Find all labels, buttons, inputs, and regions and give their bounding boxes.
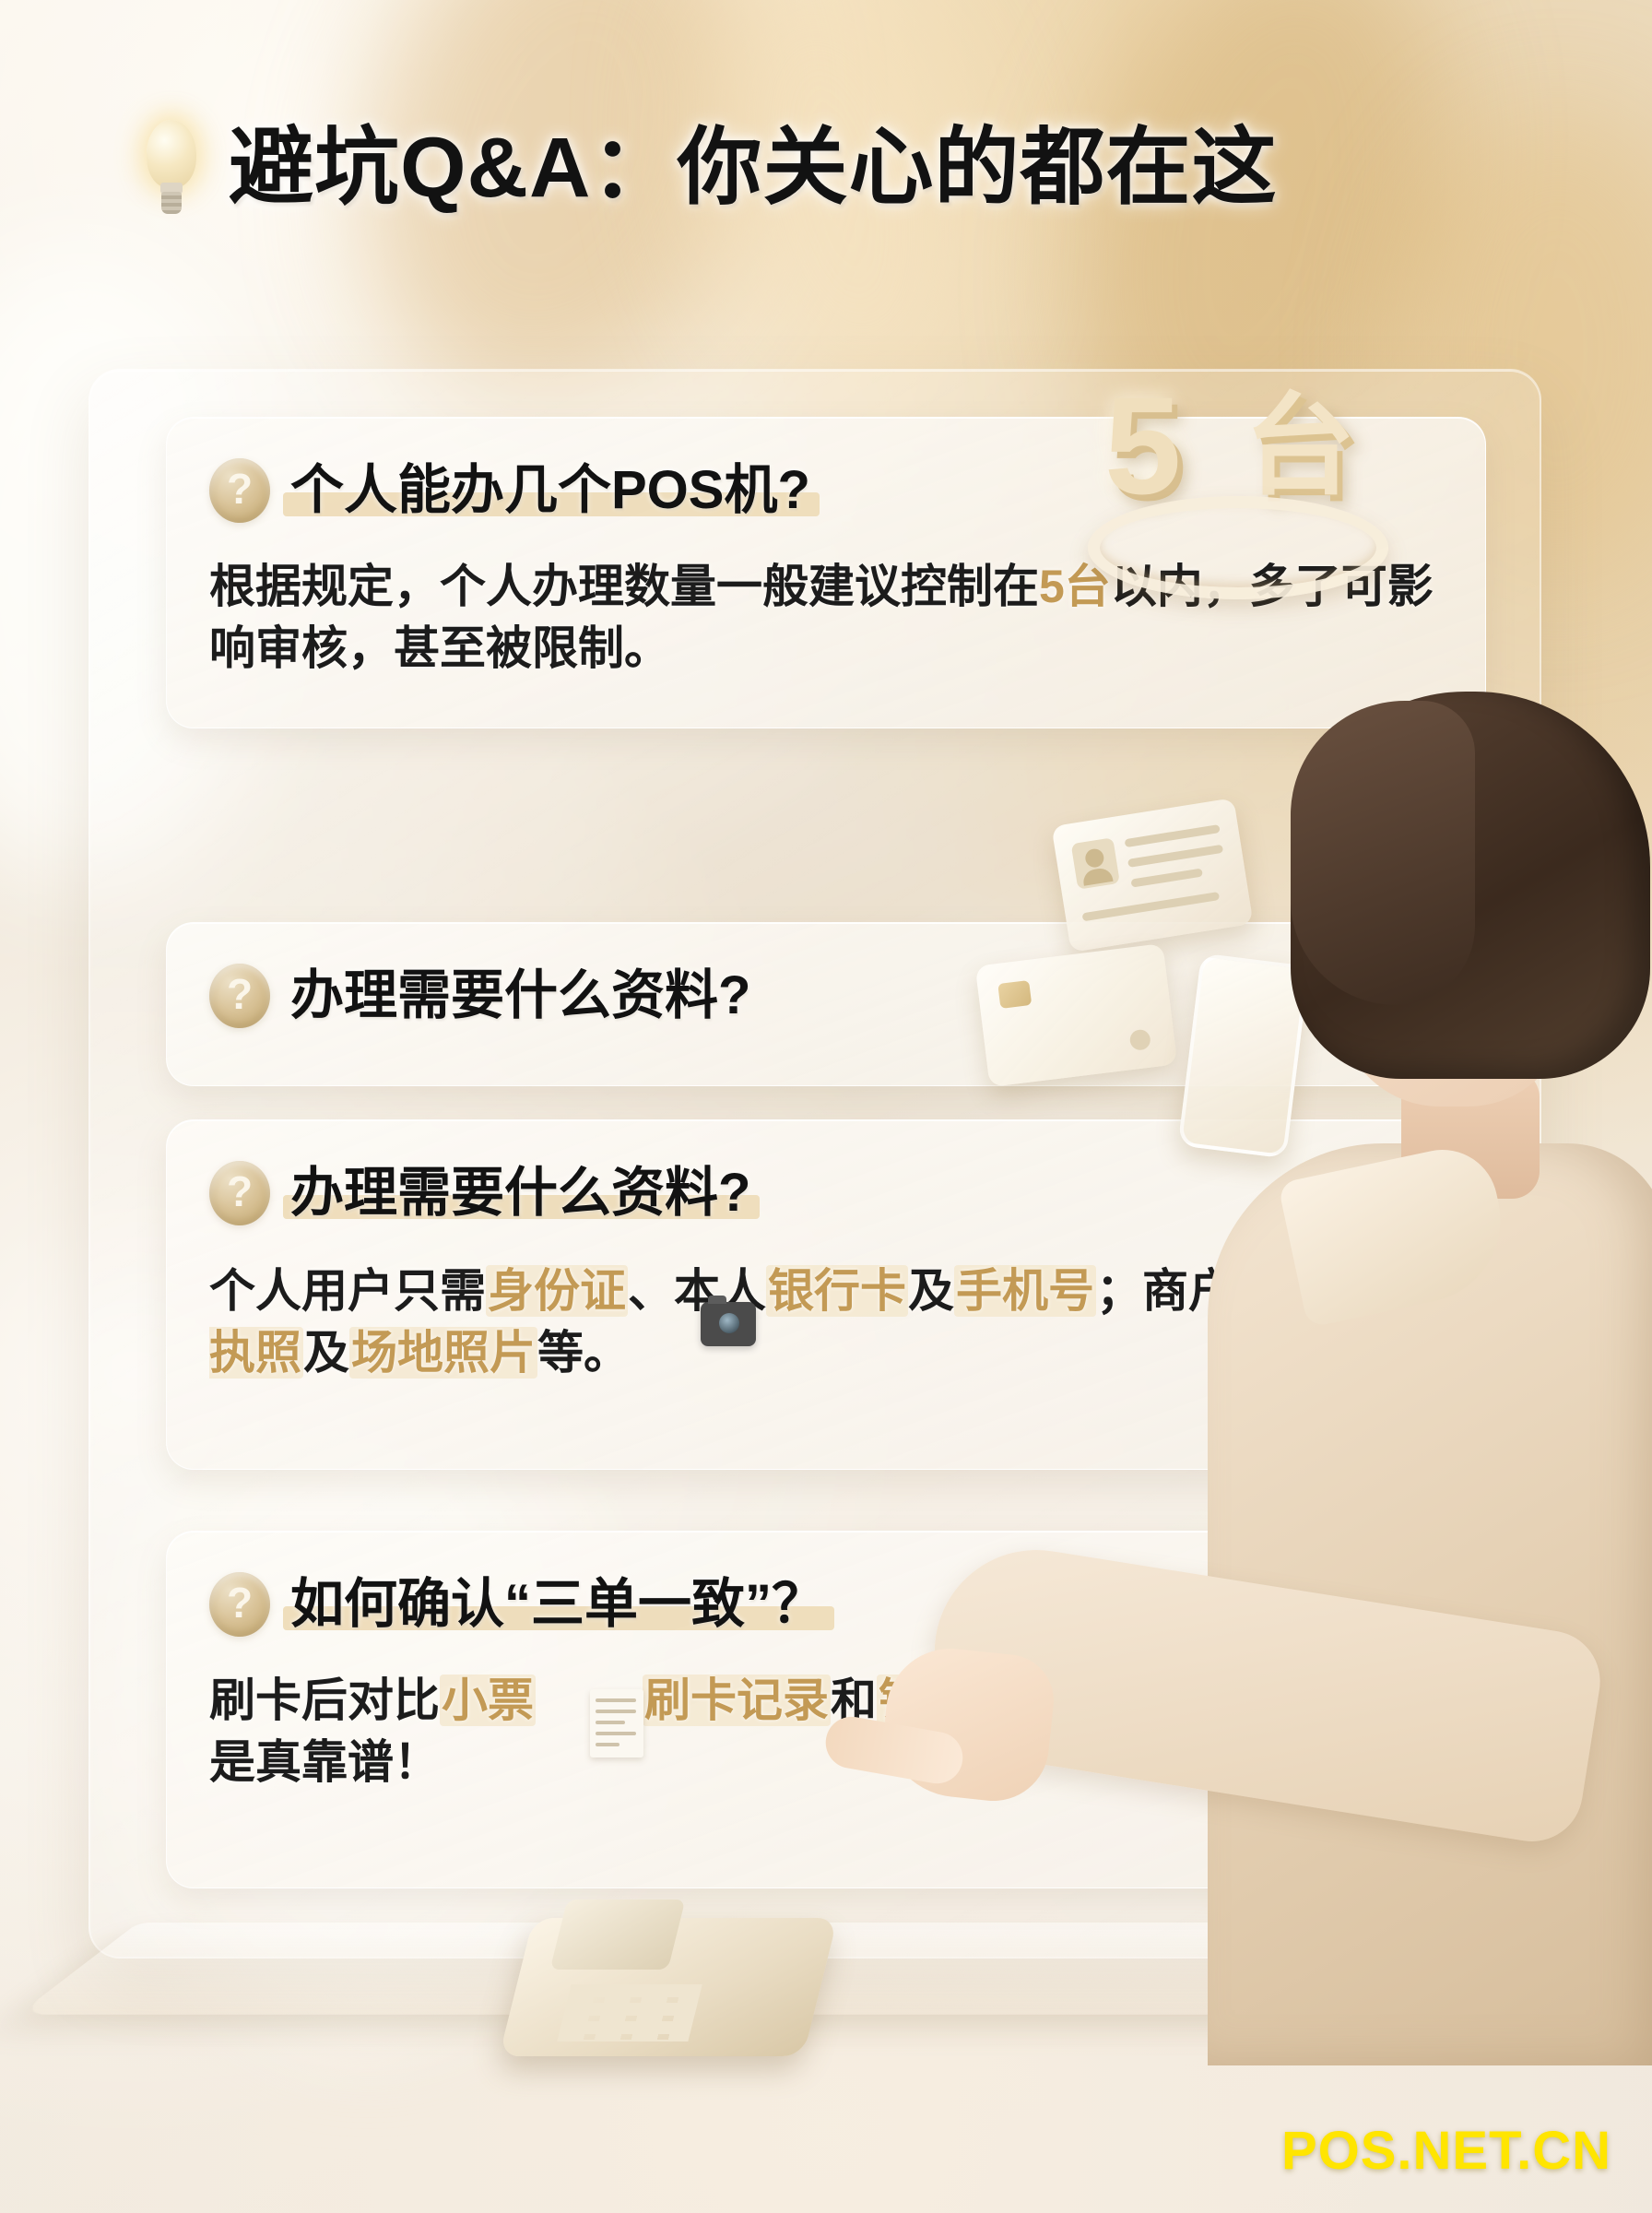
pos-terminal-illustration <box>516 1881 848 2065</box>
answer-run-highlight: 小票 <box>440 1675 536 1726</box>
question-row: ? 个人能办几个POS机? <box>209 458 810 523</box>
question-row: ? 如何确认“三单一致”？ <box>209 1572 825 1637</box>
question-mark-icon: ? <box>209 1572 270 1637</box>
question-text: 如何确认“三单一致”？ <box>290 1577 825 1633</box>
answer-run: 等。 <box>537 1327 630 1379</box>
answer-run-highlight: 手机号 <box>954 1265 1096 1317</box>
bank-card-icon <box>975 943 1178 1087</box>
answer-run-highlight: 银行卡 <box>766 1265 908 1317</box>
answer-run: 及 <box>303 1327 349 1379</box>
answer-run-highlight: 刷卡记录 <box>643 1675 831 1726</box>
answer-run: 及 <box>908 1265 954 1317</box>
question-mark-icon: ? <box>209 964 270 1028</box>
watermark: POS.NET.CN <box>1281 2120 1611 2182</box>
answer-run: 刷卡后对比 <box>209 1675 440 1726</box>
answer-run: 个人用户只需 <box>209 1265 486 1317</box>
lightbulb-icon <box>138 120 205 216</box>
answer-run-highlight: 场地照片 <box>349 1327 537 1379</box>
question-label: 如何确认“三单一致”？ <box>290 1574 825 1634</box>
question-mark-icon: ? <box>209 1161 270 1225</box>
page-header: 避坑Q&A：你关心的都在这 <box>0 120 1652 216</box>
question-label: 办理需要什么资料? <box>290 1163 750 1223</box>
answer-run-highlight: 身份证 <box>486 1265 628 1317</box>
question-row: ? 办理需要什么资料? <box>209 964 750 1028</box>
camera-icon <box>701 1302 756 1346</box>
receipt-icon <box>590 1689 643 1757</box>
question-mark-icon: ? <box>209 458 270 523</box>
answer-run: 根据规定，个人办理数量一般建议控制在 <box>209 561 1039 612</box>
question-text: 个人能办几个POS机? <box>290 463 810 519</box>
five-units-3d-ornament: 5 台 <box>1088 378 1392 590</box>
five-unit-char: 台 <box>1245 391 1355 502</box>
question-text: 办理需要什么资料? <box>290 1166 750 1222</box>
five-number: 5 <box>1104 376 1181 515</box>
page-title: 避坑Q&A：你关心的都在这 <box>229 125 1277 210</box>
person-hair-front <box>1291 701 1475 1005</box>
question-row: ? 办理需要什么资料? <box>209 1161 750 1225</box>
question-label: 个人能办几个POS机? <box>290 460 810 520</box>
question-label: 办理需要什么资料? <box>290 965 750 1025</box>
question-text: 办理需要什么资料? <box>290 968 750 1024</box>
ring-shape <box>1088 496 1388 599</box>
